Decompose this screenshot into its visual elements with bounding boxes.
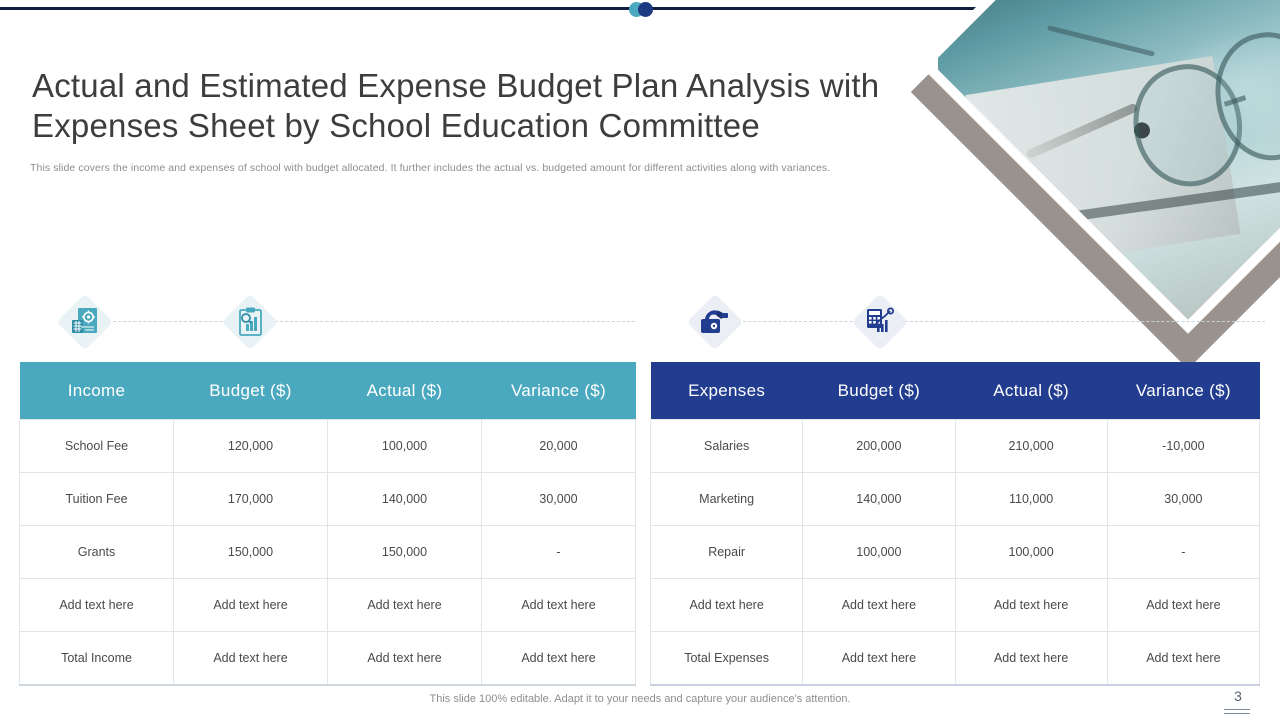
page-title: Actual and Estimated Expense Budget Plan… [32, 66, 962, 146]
expense-col-header-0: Expenses [651, 362, 803, 420]
income-col-header-3: Variance ($) [482, 362, 636, 420]
expense-cell[interactable]: 100,000 [955, 526, 1107, 579]
expense-cell[interactable]: 210,000 [955, 420, 1107, 473]
income-cell[interactable]: School Fee [20, 420, 174, 473]
income-cell[interactable]: 140,000 [328, 473, 482, 526]
expense-col-header-1: Budget ($) [803, 362, 955, 420]
calculator-growth-icon [855, 297, 905, 347]
expense-cell[interactable]: Salaries [651, 420, 803, 473]
document-gear-icon [60, 297, 110, 347]
expense-cell[interactable]: Add text here [803, 632, 955, 686]
income-cell[interactable]: 120,000 [174, 420, 328, 473]
wallet-money-icon [690, 297, 740, 347]
table-row: Salaries 200,000 210,000 -10,000 [651, 420, 1260, 473]
clipboard-chart-search-icon [225, 297, 275, 347]
income-cell[interactable]: Add text here [174, 632, 328, 686]
table-row: Total Expenses Add text here Add text he… [651, 632, 1260, 686]
table-row: Tuition Fee 170,000 140,000 30,000 [20, 473, 636, 526]
icon-row-expenses [690, 297, 1270, 347]
top-dot-navy-icon [638, 2, 653, 17]
income-cell[interactable]: 150,000 [174, 526, 328, 579]
icon-row-income [60, 297, 640, 347]
income-col-header-0: Income [20, 362, 174, 420]
photo-white-frame [919, 0, 1280, 332]
income-cell[interactable]: 100,000 [328, 420, 482, 473]
expense-cell[interactable]: 140,000 [803, 473, 955, 526]
income-cell[interactable]: Add text here [20, 579, 174, 632]
income-cell[interactable]: Add text here [328, 579, 482, 632]
income-cell[interactable]: 150,000 [328, 526, 482, 579]
income-col-header-1: Budget ($) [174, 362, 328, 420]
table-row: Add text here Add text here Add text her… [651, 579, 1260, 632]
income-cell[interactable]: Tuition Fee [20, 473, 174, 526]
table-header-row: Expenses Budget ($) Actual ($) Variance … [651, 362, 1260, 420]
page-subtitle: This slide covers the income and expense… [30, 161, 960, 175]
table-row: School Fee 120,000 100,000 20,000 [20, 420, 636, 473]
income-cell[interactable]: 170,000 [174, 473, 328, 526]
expenses-table: Expenses Budget ($) Actual ($) Variance … [650, 362, 1260, 686]
expense-col-header-2: Actual ($) [955, 362, 1107, 420]
icon-node-wallet-money[interactable] [690, 297, 740, 347]
table-row: Total Income Add text here Add text here… [20, 632, 636, 686]
expense-cell[interactable]: Repair [651, 526, 803, 579]
expense-cell[interactable]: - [1107, 526, 1259, 579]
income-cell[interactable]: Grants [20, 526, 174, 579]
icon-node-calculator-growth[interactable] [855, 297, 905, 347]
page-number-underline [1224, 709, 1250, 714]
income-cell[interactable]: 20,000 [482, 420, 636, 473]
footer-note: This slide 100% editable. Adapt it to yo… [0, 693, 1280, 705]
income-cell[interactable]: Add text here [174, 579, 328, 632]
page-number: 3 [1228, 688, 1248, 704]
table-row: Add text here Add text here Add text her… [20, 579, 636, 632]
income-col-header-2: Actual ($) [328, 362, 482, 420]
expense-cell[interactable]: -10,000 [1107, 420, 1259, 473]
top-rule-right [655, 7, 905, 10]
expense-cell[interactable]: Add text here [1107, 579, 1259, 632]
income-cell[interactable]: Add text here [482, 579, 636, 632]
income-cell[interactable]: Add text here [482, 632, 636, 686]
expense-cell[interactable]: Add text here [1107, 632, 1259, 686]
expense-cell[interactable]: Add text here [651, 579, 803, 632]
expense-col-header-3: Variance ($) [1107, 362, 1259, 420]
income-cell[interactable]: - [482, 526, 636, 579]
glasses-arm-shape [1047, 25, 1155, 56]
connector-dash-4 [905, 321, 1265, 323]
connector-dash-3 [738, 321, 868, 323]
slide-canvas: Actual and Estimated Expense Budget Plan… [0, 0, 1280, 720]
icon-node-clipboard-chart[interactable] [225, 297, 275, 347]
top-rule-left [0, 7, 1080, 10]
connector-dash-2 [275, 321, 635, 323]
expense-cell[interactable]: Add text here [803, 579, 955, 632]
table-row: Grants 150,000 150,000 - [20, 526, 636, 579]
income-table: Income Budget ($) Actual ($) Variance ($… [19, 362, 636, 686]
expense-cell[interactable]: 100,000 [803, 526, 955, 579]
expense-cell[interactable]: 30,000 [1107, 473, 1259, 526]
income-cell[interactable]: Total Income [20, 632, 174, 686]
table-header-row: Income Budget ($) Actual ($) Variance ($… [20, 362, 636, 420]
income-cell[interactable]: 30,000 [482, 473, 636, 526]
expense-cell[interactable]: 200,000 [803, 420, 955, 473]
table-row: Marketing 140,000 110,000 30,000 [651, 473, 1260, 526]
expense-cell[interactable]: Add text here [955, 632, 1107, 686]
table-row: Repair 100,000 100,000 - [651, 526, 1260, 579]
income-cell[interactable]: Add text here [328, 632, 482, 686]
expense-cell[interactable]: 110,000 [955, 473, 1107, 526]
expense-cell[interactable]: Add text here [955, 579, 1107, 632]
expense-cell[interactable]: Total Expenses [651, 632, 803, 686]
expense-cell[interactable]: Marketing [651, 473, 803, 526]
icon-node-document-gear[interactable] [60, 297, 110, 347]
